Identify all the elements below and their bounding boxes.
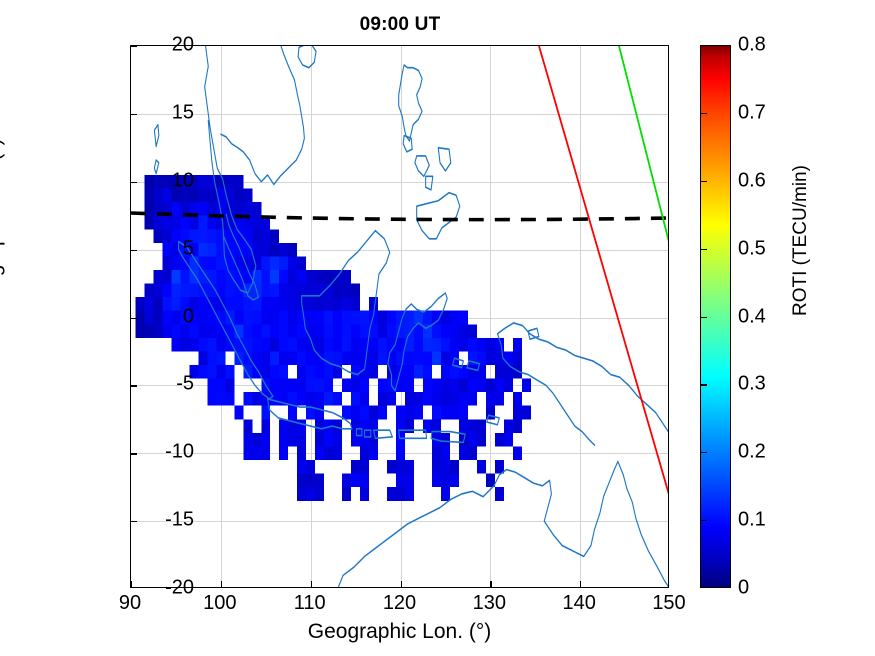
ytick-10 bbox=[131, 182, 137, 183]
green-track-line bbox=[619, 46, 669, 246]
xtick-label-120: 120 bbox=[383, 592, 416, 615]
ytick-label-20: 20 bbox=[172, 34, 194, 57]
cbtick-label-0.1: 0.1 bbox=[738, 509, 766, 532]
overlay-tracks-layer bbox=[131, 46, 669, 588]
red-track-line bbox=[539, 46, 669, 498]
cbtick-label-0.2: 0.2 bbox=[738, 441, 766, 464]
ytick-m5 bbox=[131, 385, 137, 386]
cbtick-label-0.8: 0.8 bbox=[738, 34, 766, 57]
ytick-m15 bbox=[131, 521, 137, 522]
cbtick-label-0.3: 0.3 bbox=[738, 373, 766, 396]
ytick-m10 bbox=[131, 453, 137, 454]
ytick-label-m15: -15 bbox=[165, 509, 194, 532]
ytick-15 bbox=[131, 114, 137, 115]
ytick-label-10: 10 bbox=[172, 169, 194, 192]
map-axes[interactable] bbox=[130, 45, 669, 588]
xtick-110 bbox=[311, 581, 312, 587]
ytick-5 bbox=[131, 250, 137, 251]
xtick-150 bbox=[668, 581, 669, 587]
cbtick-0.1 bbox=[701, 520, 707, 521]
cbtick-0.7 bbox=[701, 113, 707, 114]
xtick-120 bbox=[401, 581, 402, 587]
y-axis-title: Geographic Lat. (°) bbox=[0, 138, 6, 316]
xtick-label-140: 140 bbox=[563, 592, 596, 615]
colorbar-title: ROTI (TECU/min) bbox=[790, 165, 812, 316]
ytick-label-15: 15 bbox=[172, 101, 194, 124]
cbtick-0.2 bbox=[701, 452, 707, 453]
cbtick-label-0.5: 0.5 bbox=[738, 237, 766, 260]
ytick-label-5: 5 bbox=[183, 237, 194, 260]
ytick-label-m5: -5 bbox=[176, 373, 194, 396]
cbtick-label-0.6: 0.6 bbox=[738, 169, 766, 192]
xtick-130 bbox=[490, 581, 491, 587]
ytick-label-m10: -10 bbox=[165, 441, 194, 464]
xtick-100 bbox=[221, 581, 222, 587]
xtick-label-100: 100 bbox=[203, 592, 236, 615]
x-axis-title: Geographic Lon. (°) bbox=[130, 620, 669, 644]
ytick-label-m20: -20 bbox=[165, 577, 194, 600]
xtick-90 bbox=[131, 581, 132, 587]
plot-title: 09:00 UT bbox=[130, 14, 670, 36]
cbtick-0.4 bbox=[701, 317, 707, 318]
xtick-label-150: 150 bbox=[652, 592, 685, 615]
figure-canvas: 09:00 UT bbox=[0, 0, 875, 656]
cbtick-label-0: 0 bbox=[738, 577, 749, 600]
cbtick-label-0.4: 0.4 bbox=[738, 305, 766, 328]
ytick-0 bbox=[131, 318, 137, 319]
xtick-label-110: 110 bbox=[294, 592, 326, 615]
xtick-label-130: 130 bbox=[473, 592, 506, 615]
cbtick-0.6 bbox=[701, 181, 707, 182]
cbtick-label-0.7: 0.7 bbox=[738, 101, 766, 124]
cbtick-0.3 bbox=[701, 384, 707, 385]
cbtick-0.5 bbox=[701, 249, 707, 250]
ytick-label-0: 0 bbox=[183, 305, 194, 328]
xtick-label-90: 90 bbox=[119, 592, 141, 615]
ytick-20 bbox=[131, 46, 137, 47]
xtick-140 bbox=[580, 581, 581, 587]
